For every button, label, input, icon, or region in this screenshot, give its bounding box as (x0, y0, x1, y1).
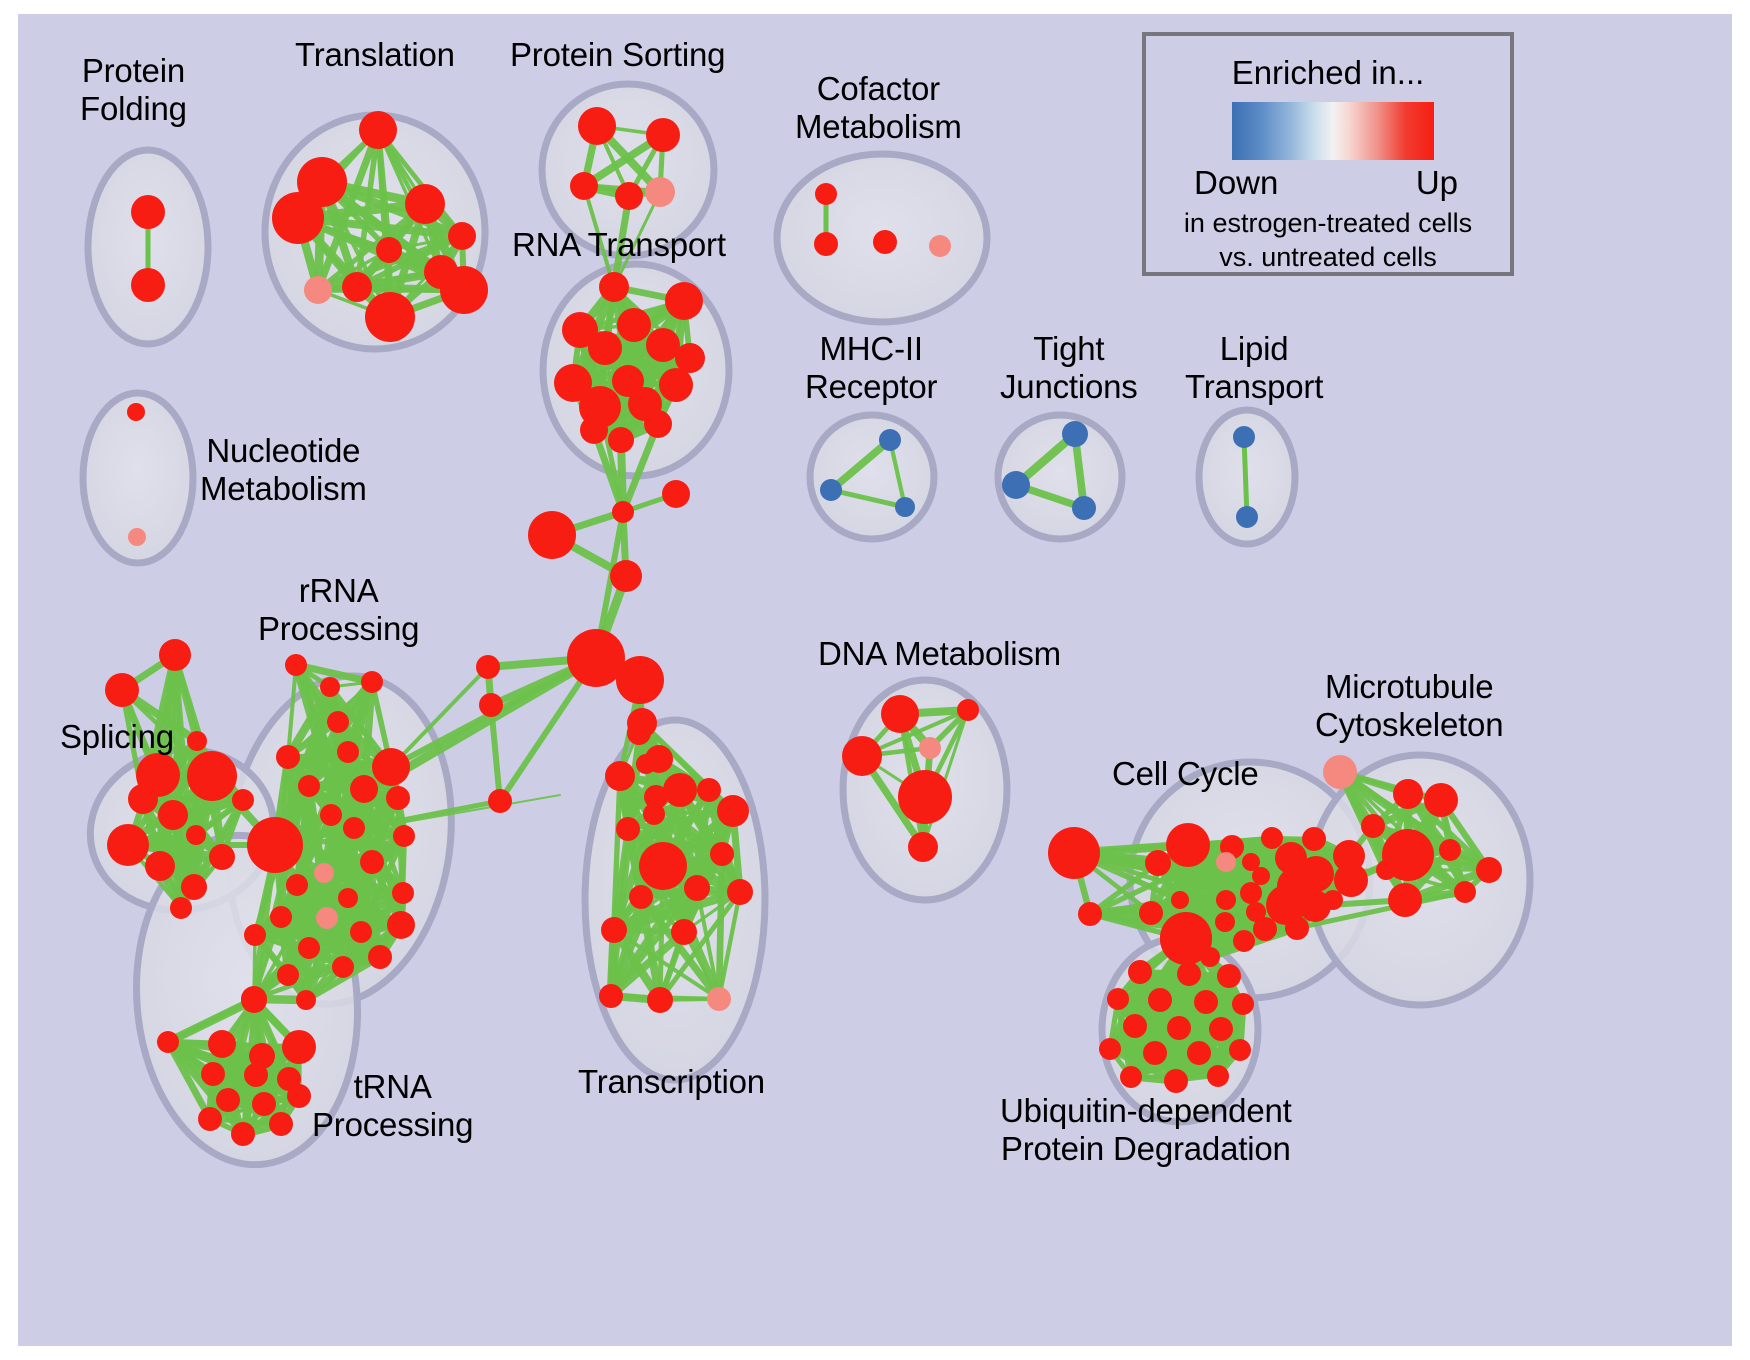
network-node (599, 984, 623, 1008)
network-node (1194, 990, 1218, 1014)
network-node (707, 987, 731, 1011)
network-node (1048, 827, 1100, 879)
network-node (1187, 1041, 1211, 1065)
network-node (1233, 930, 1255, 952)
network-node (662, 480, 690, 508)
cluster-label-nucleotide-metabolism: Nucleotide Metabolism (200, 432, 367, 507)
network-node (158, 800, 188, 830)
network-node (298, 937, 320, 959)
legend-down-label: Down (1194, 164, 1278, 202)
cluster-label-ubiquitin-protein-degradation: Ubiquitin-dependent Protein Degradation (1000, 1092, 1292, 1167)
network-node (599, 272, 629, 302)
cluster-ellipse-mhc-ii-receptor (810, 415, 934, 539)
network-node (1454, 881, 1476, 903)
network-node (639, 842, 687, 890)
network-node (343, 817, 365, 839)
legend-color-gradient (1232, 102, 1434, 160)
network-node (361, 671, 383, 693)
network-node (608, 427, 634, 453)
network-node (252, 1092, 276, 1116)
network-node (1107, 988, 1129, 1010)
network-node (376, 237, 402, 263)
network-node (440, 266, 488, 314)
network-node (1393, 779, 1423, 809)
network-node (1302, 827, 1326, 851)
network-node (919, 737, 941, 759)
network-node (276, 745, 300, 769)
network-node (342, 272, 372, 302)
network-node (159, 639, 191, 671)
network-node (1216, 890, 1236, 910)
network-node (578, 107, 616, 145)
network-node (359, 111, 397, 149)
network-node (350, 921, 372, 943)
network-node (316, 907, 338, 929)
network-node (105, 673, 139, 707)
network-node (128, 784, 158, 814)
network-node (1232, 993, 1254, 1015)
network-node (1252, 867, 1270, 885)
cluster-label-lipid-transport: Lipid Transport (1185, 330, 1323, 405)
network-node (671, 919, 697, 945)
network-edge (1244, 437, 1247, 517)
network-node (645, 745, 673, 773)
network-node (387, 911, 415, 939)
network-node (107, 824, 149, 866)
network-node (605, 761, 635, 791)
cluster-label-trna-processing: tRNA Processing (312, 1068, 473, 1143)
network-node (208, 1030, 236, 1058)
legend-panel: Enriched in... Down Up in estrogen-treat… (1142, 32, 1514, 276)
network-node (908, 832, 938, 862)
network-node (320, 677, 340, 697)
network-node (1143, 1041, 1167, 1065)
cluster-label-mhc-ii-receptor: MHC-II Receptor (805, 330, 937, 405)
network-node (287, 1084, 311, 1108)
network-node (1177, 962, 1201, 986)
network-node (145, 851, 175, 881)
network-node (1261, 827, 1283, 849)
network-node (231, 1122, 255, 1146)
network-node (1145, 850, 1171, 876)
network-node (1253, 917, 1277, 941)
network-node (270, 906, 292, 928)
network-node (201, 1062, 225, 1086)
network-node (710, 842, 734, 866)
network-node (610, 560, 642, 592)
network-node (1167, 1016, 1191, 1040)
network-node (1376, 860, 1396, 880)
network-node (244, 1063, 268, 1087)
network-node (1216, 852, 1236, 872)
network-node (616, 656, 664, 704)
network-node (580, 416, 608, 444)
network-node (1229, 1039, 1251, 1061)
network-node (1323, 890, 1343, 910)
network-node (615, 182, 643, 210)
network-node (131, 268, 165, 302)
network-node (1099, 1038, 1121, 1060)
network-node (697, 778, 721, 802)
network-node (601, 917, 627, 943)
network-node (170, 897, 192, 919)
network-node (327, 711, 349, 733)
network-node (338, 888, 358, 908)
cluster-label-transcription: Transcription (578, 1063, 765, 1101)
network-node (216, 1088, 240, 1112)
network-node (895, 497, 915, 517)
network-node (1233, 426, 1255, 448)
network-node (663, 773, 697, 807)
network-node (1439, 839, 1461, 861)
cluster-label-protein-folding: Protein Folding (80, 52, 187, 127)
network-node (157, 1031, 179, 1053)
network-node (479, 693, 503, 717)
network-node (528, 511, 576, 559)
network-node (1424, 783, 1458, 817)
network-node (957, 699, 979, 721)
network-node (360, 850, 384, 874)
network-node (646, 118, 680, 152)
legend-subtitle-line2: vs. untreated cells (1146, 242, 1510, 273)
network-node (332, 956, 354, 978)
network-node (1139, 901, 1163, 925)
network-node (386, 786, 410, 810)
network-node (612, 501, 634, 523)
network-node (232, 789, 254, 811)
network-node (337, 741, 359, 763)
network-node (368, 945, 392, 969)
network-node (1323, 755, 1357, 789)
network-node (286, 874, 308, 896)
network-node (629, 885, 653, 909)
network-node (570, 172, 598, 200)
network-node (1388, 883, 1422, 917)
network-node (244, 924, 266, 946)
network-node (1160, 912, 1212, 964)
network-node (814, 232, 838, 256)
network-node (873, 230, 897, 254)
legend-title: Enriched in... (1146, 54, 1510, 92)
network-node (1171, 891, 1189, 909)
network-node (282, 1030, 316, 1064)
network-node (1361, 814, 1385, 838)
network-node (1128, 960, 1152, 984)
network-node (644, 410, 672, 438)
network-node (241, 987, 267, 1013)
network-node (647, 987, 673, 1013)
network-node (1166, 823, 1210, 867)
network-node (1240, 882, 1262, 904)
network-node (209, 844, 235, 870)
network-node (1476, 857, 1502, 883)
network-node (127, 403, 145, 421)
network-node (187, 751, 237, 801)
network-node (727, 879, 753, 905)
cluster-label-tight-junctions: Tight Junctions (1000, 330, 1138, 405)
network-node (646, 328, 680, 362)
network-node (881, 695, 919, 733)
network-node (128, 528, 146, 546)
cluster-label-cofactor-metabolism: Cofactor Metabolism (795, 70, 962, 145)
network-node (247, 817, 303, 873)
figure-canvas: Protein FoldingTranslationProtein Sortin… (0, 0, 1750, 1360)
network-node (1078, 902, 1102, 926)
network-node (277, 964, 299, 986)
network-node (198, 1107, 222, 1131)
network-node (314, 863, 334, 883)
network-node (350, 775, 378, 803)
cluster-label-protein-sorting: Protein Sorting (510, 36, 725, 74)
network-node (1285, 916, 1309, 940)
cluster-label-dna-metabolism: DNA Metabolism (818, 635, 1061, 673)
cluster-label-rrna-processing: rRNA Processing (258, 572, 419, 647)
network-node (1209, 1017, 1233, 1041)
network-node (1215, 912, 1235, 932)
network-node (181, 874, 207, 900)
network-node (298, 775, 320, 797)
network-node (684, 875, 710, 901)
network-node (1164, 1069, 1188, 1093)
network-node (1236, 506, 1258, 528)
network-node (1217, 964, 1241, 988)
network-node (627, 708, 657, 738)
network-node (820, 479, 842, 501)
network-node (1207, 1065, 1229, 1087)
network-node (296, 990, 316, 1010)
network-node (659, 368, 693, 402)
cluster-label-cell-cycle: Cell Cycle (1112, 755, 1259, 793)
network-node (645, 177, 675, 207)
network-node (405, 184, 445, 224)
legend-up-label: Up (1416, 164, 1458, 202)
network-node (476, 655, 500, 679)
network-node (1148, 988, 1172, 1012)
legend-subtitle-line1: in estrogen-treated cells (1146, 208, 1510, 239)
network-node (186, 825, 206, 845)
network-node (929, 235, 951, 257)
cluster-label-rna-transport: RNA Transport (512, 226, 726, 264)
network-node (1123, 1014, 1147, 1038)
network-node (1120, 1066, 1142, 1088)
network-node (1002, 471, 1030, 499)
network-node (448, 222, 476, 250)
network-node (717, 795, 749, 827)
network-node (815, 183, 837, 205)
network-node (1062, 421, 1088, 447)
network-node (588, 331, 622, 365)
network-node (393, 825, 415, 847)
network-node (643, 803, 665, 825)
cluster-label-microtubule-cytoskeleton: Microtubule Cytoskeleton (1315, 668, 1503, 743)
network-node (304, 276, 332, 304)
network-node (617, 308, 651, 342)
network-node (392, 882, 414, 904)
network-node (842, 736, 882, 776)
network-node (488, 789, 512, 813)
network-node (187, 731, 207, 751)
network-node (320, 804, 342, 826)
cluster-label-translation: Translation (295, 36, 455, 74)
network-node (616, 817, 640, 841)
network-node (665, 282, 703, 320)
network-node (285, 654, 307, 676)
network-node (272, 192, 324, 244)
network-node (898, 770, 952, 824)
network-node (1334, 863, 1368, 897)
network-node (372, 748, 410, 786)
network-node (269, 1112, 293, 1136)
cluster-label-splicing: Splicing (60, 718, 174, 756)
network-node (1072, 496, 1096, 520)
network-node (879, 429, 901, 451)
network-node (365, 292, 415, 342)
network-node (131, 195, 165, 229)
